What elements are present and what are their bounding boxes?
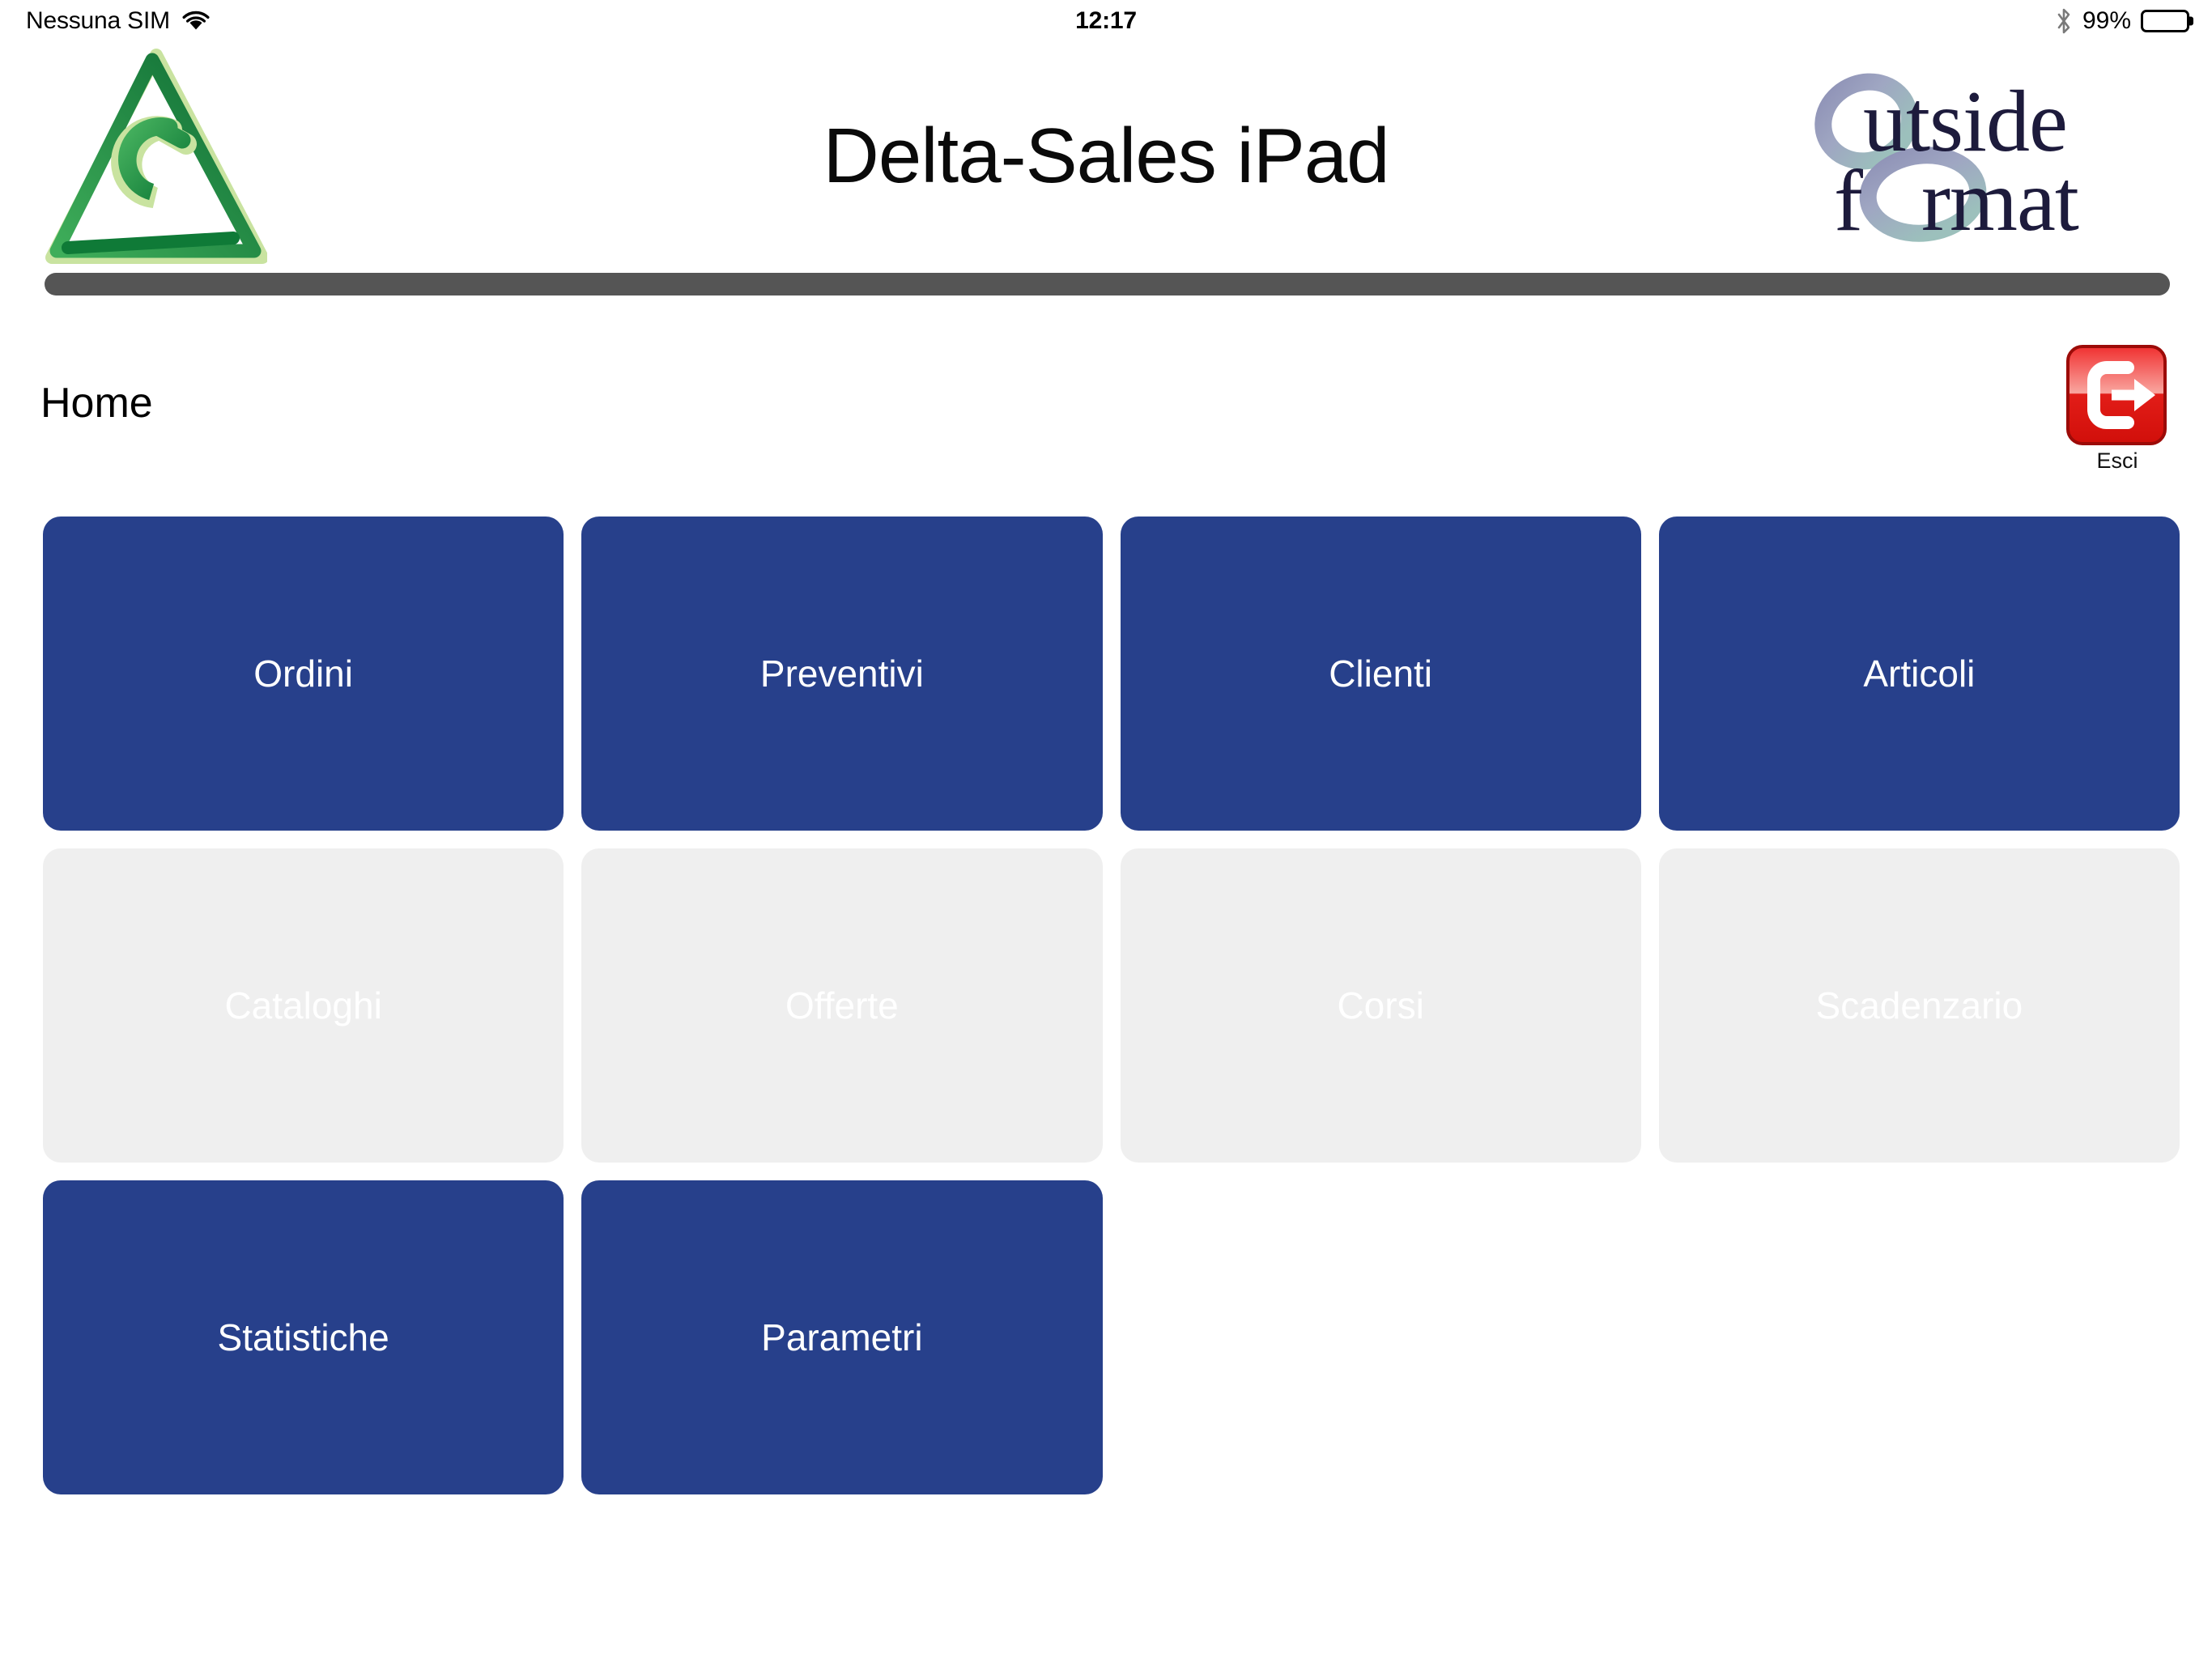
tile-ordini[interactable]: Ordini xyxy=(43,517,564,831)
exit-door-arrow-icon[interactable] xyxy=(2065,343,2170,447)
tile-placeholder xyxy=(1659,1180,2180,1494)
tile-label: Statistiche xyxy=(218,1316,389,1359)
tile-label: Parametri xyxy=(761,1316,922,1359)
tile-label: Scadenzario xyxy=(1816,984,2023,1027)
tile-parametri[interactable]: Parametri xyxy=(581,1180,1102,1494)
status-bar: Nessuna SIM 12:17 99% xyxy=(0,0,2212,42)
tile-label: Ordini xyxy=(253,652,353,695)
esci-button[interactable]: Esci xyxy=(2065,343,2170,472)
status-bar-clock: 12:17 xyxy=(0,7,2212,35)
bluetooth-icon xyxy=(2055,7,2073,35)
tile-placeholder xyxy=(1121,1180,1641,1494)
status-bar-right: 99% xyxy=(2055,7,2189,35)
tile-label: Offerte xyxy=(785,984,899,1027)
svg-text:rmat: rmat xyxy=(1921,153,2079,246)
esci-label: Esci xyxy=(2065,450,2170,472)
app-header: Delta-Sales iPad utside f rmat xyxy=(0,42,2212,270)
tile-scadenzario: Scadenzario xyxy=(1659,848,2180,1163)
tile-statistiche[interactable]: Statistiche xyxy=(43,1180,564,1494)
header-separator-bar xyxy=(45,273,2170,295)
tile-label: Articoli xyxy=(1863,652,1975,695)
battery-percent-label: 99% xyxy=(2082,7,2131,35)
tile-cataloghi: Cataloghi xyxy=(43,848,564,1163)
tile-offerte: Offerte xyxy=(581,848,1102,1163)
outside-format-logo: utside f rmat xyxy=(1803,60,2184,246)
home-tile-grid: OrdiniPreventiviClientiArticoliCataloghi… xyxy=(43,517,2180,1494)
tile-label: Preventivi xyxy=(760,652,924,695)
tile-preventivi[interactable]: Preventivi xyxy=(581,517,1102,831)
battery-icon xyxy=(2141,10,2189,32)
tile-label: Corsi xyxy=(1337,984,1423,1027)
tile-label: Cataloghi xyxy=(224,984,381,1027)
page-title: Home xyxy=(40,379,153,427)
tile-clienti[interactable]: Clienti xyxy=(1121,517,1641,831)
tile-label: Clienti xyxy=(1329,652,1432,695)
svg-text:f: f xyxy=(1834,153,1863,246)
tile-corsi: Corsi xyxy=(1121,848,1641,1163)
tile-articoli[interactable]: Articoli xyxy=(1659,517,2180,831)
